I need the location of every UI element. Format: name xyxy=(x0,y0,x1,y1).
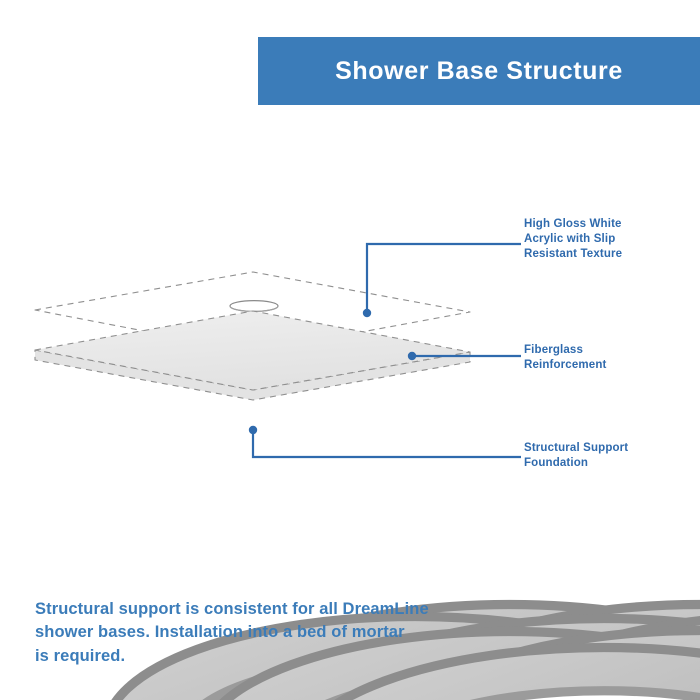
callout-label-support: Structural Support Foundation xyxy=(524,441,628,471)
diagram-page: Shower Base Structure xyxy=(0,0,700,700)
leader-dot-acrylic xyxy=(363,309,371,317)
callout-label-acrylic: High Gloss White Acrylic with Slip Resis… xyxy=(524,217,622,263)
leader-line-acrylic xyxy=(367,244,521,313)
leader-dot-support xyxy=(249,426,257,434)
leader-line-support xyxy=(253,430,521,457)
leader-dot-fiberglass xyxy=(408,352,416,360)
footer-caption: Structural support is consistent for all… xyxy=(35,598,485,668)
callout-label-fiberglass: Fiberglass Reinforcement xyxy=(524,343,606,373)
